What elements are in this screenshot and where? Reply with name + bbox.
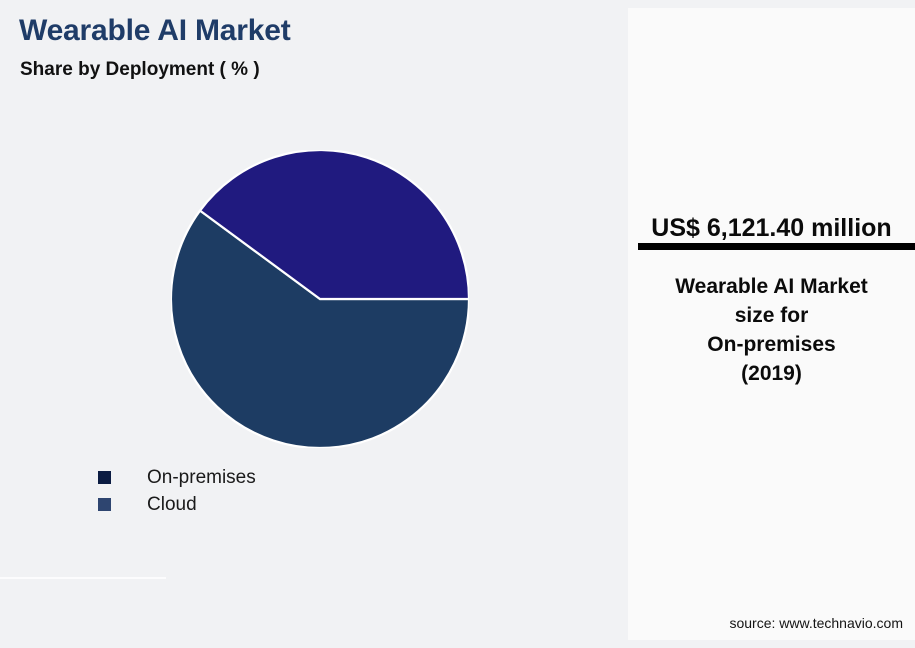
chart-panel: Wearable AI Market Share by Deployment (… xyxy=(0,0,626,648)
legend-swatch-icon xyxy=(98,471,111,484)
callout-caption-line: size for xyxy=(636,301,907,330)
pie-chart xyxy=(171,150,469,448)
callout-value: US$ 6,121.40 million xyxy=(628,214,915,243)
callout-divider xyxy=(638,243,915,250)
page-title: Wearable AI Market xyxy=(19,14,291,48)
callout-caption-line: Wearable AI Market xyxy=(636,272,907,301)
callout-caption-line: On-premises xyxy=(636,330,907,359)
legend-item-cloud[interactable]: Cloud xyxy=(98,491,256,518)
legend-swatch-icon xyxy=(98,498,111,511)
callout-caption-line: (2019) xyxy=(636,359,907,388)
footer-divider xyxy=(0,577,166,579)
callout-caption: Wearable AI Market size for On-premises … xyxy=(636,272,907,388)
legend-item-label: Cloud xyxy=(147,494,197,516)
chart-subtitle: Share by Deployment ( % ) xyxy=(20,59,260,81)
infographic-canvas: Wearable AI Market Share by Deployment (… xyxy=(0,0,915,648)
callout-panel: US$ 6,121.40 million Wearable AI Market … xyxy=(628,8,915,640)
pie-chart-svg xyxy=(171,150,469,448)
legend-item-label: On-premises xyxy=(147,467,256,489)
legend-item-on-premises[interactable]: On-premises xyxy=(98,464,256,491)
pie-slices xyxy=(171,150,469,448)
chart-legend: On-premises Cloud xyxy=(98,464,256,518)
source-note: source: www.technavio.com xyxy=(628,615,903,631)
